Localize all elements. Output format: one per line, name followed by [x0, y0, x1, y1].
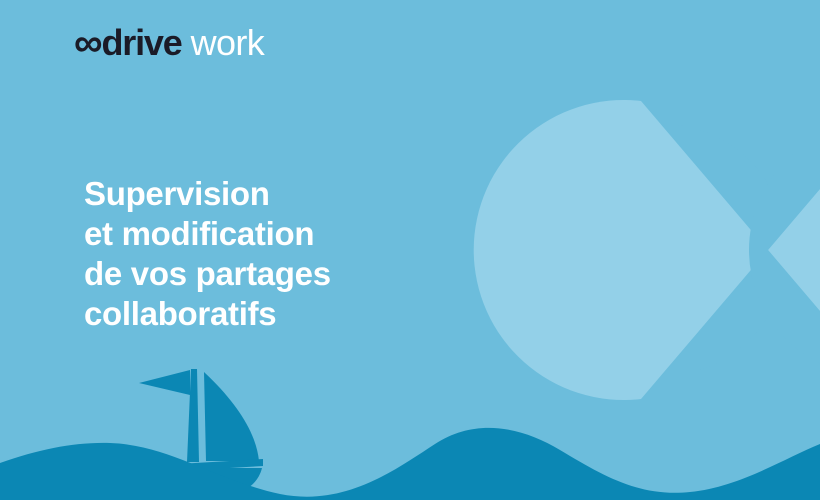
title-slide: ∞ drive work Supervision et modification… — [0, 0, 820, 500]
headline-line-1: Supervision — [84, 174, 331, 214]
logo-suffix-text: work — [191, 25, 265, 61]
headline-line-3: de vos partages — [84, 254, 331, 294]
oodrive-work-logo: ∞ drive work — [74, 22, 264, 62]
infinity-logo-icon: ∞ — [74, 23, 102, 63]
slide-headline: Supervision et modification de vos parta… — [84, 174, 331, 334]
headline-line-4: collaboratifs — [84, 294, 331, 334]
headline-line-2: et modification — [84, 214, 331, 254]
logo-brand-text: drive — [102, 25, 182, 61]
